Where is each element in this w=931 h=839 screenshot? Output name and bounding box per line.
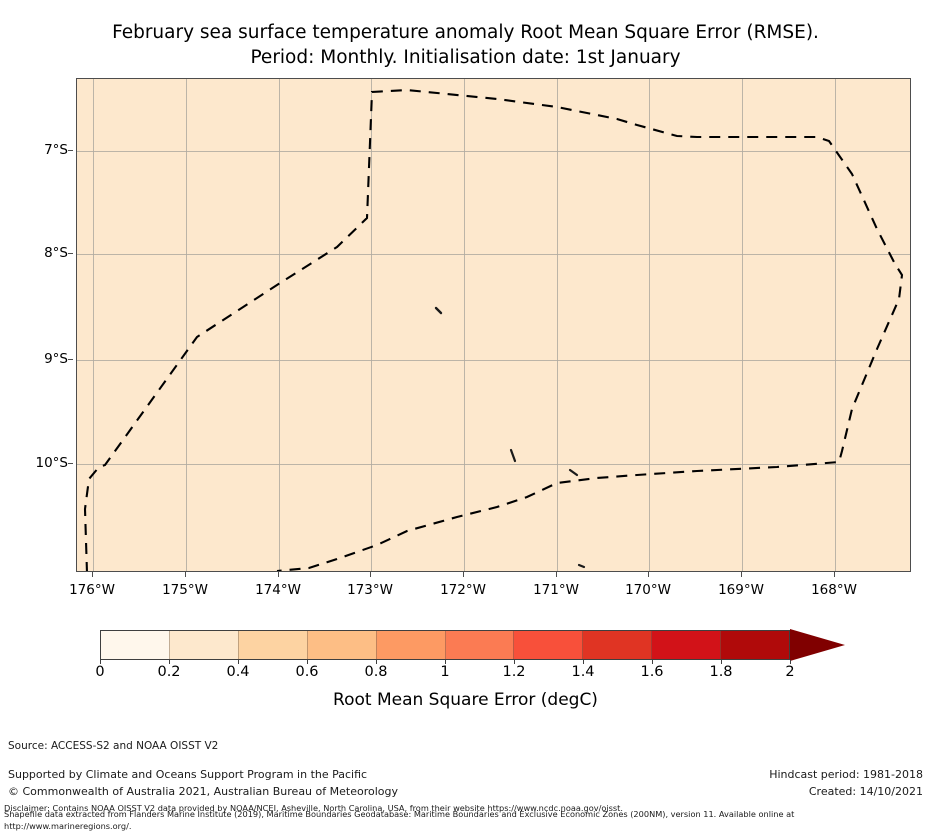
created-date: Created: 14/10/2021 <box>769 783 923 800</box>
colorbar-band-4 <box>376 631 445 659</box>
colorbar-tick-label: 0.6 <box>277 664 337 680</box>
x-tick-mark <box>834 572 835 577</box>
colorbar-band-6 <box>513 631 582 659</box>
colorbar-tick-label: 1.8 <box>691 664 751 680</box>
x-tick-label: 168°W <box>789 582 879 598</box>
hindcast-period: Hindcast period: 1981-2018 <box>769 766 923 783</box>
y-tick-label: 7°S <box>4 142 68 158</box>
y-tick-label: 10°S <box>4 455 68 471</box>
colorbar[interactable] <box>100 630 845 660</box>
y-tick-mark <box>68 463 73 464</box>
colorbar-band-1 <box>169 631 238 659</box>
title-line-2: Period: Monthly. Initialisation date: 1s… <box>0 45 931 70</box>
x-tick-mark <box>370 572 371 577</box>
colorbar-extend-arrow-icon <box>790 629 845 661</box>
y-tick-label: 8°S <box>4 245 68 261</box>
y-tick-label: 9°S <box>4 351 68 367</box>
title-line-1: February sea surface temperature anomaly… <box>0 20 931 45</box>
x-tick-label: 172°W <box>418 582 508 598</box>
colorbar-tick-label: 0.4 <box>208 664 268 680</box>
x-tick-label: 173°W <box>325 582 415 598</box>
y-axis: 7°S 8°S 9°S 10°S <box>0 78 68 572</box>
footer-meta-block: Hindcast period: 1981-2018 Created: 14/1… <box>769 766 923 800</box>
colorbar-band-5 <box>445 631 514 659</box>
y-tick-mark <box>68 150 73 151</box>
x-tick-label: 170°W <box>603 582 693 598</box>
page-title: February sea surface temperature anomaly… <box>0 20 931 70</box>
x-tick-mark <box>648 572 649 577</box>
colorbar-band-9 <box>720 631 789 659</box>
footer-support-block: Supported by Climate and Oceans Support … <box>8 766 398 800</box>
footer-source: Source: ACCESS-S2 and NOAA OISST V2 <box>8 740 218 752</box>
x-tick-mark <box>556 572 557 577</box>
colorbar-band-0 <box>101 631 169 659</box>
colorbar-gradient <box>100 630 790 660</box>
colorbar-tick-label: 1 <box>415 664 475 680</box>
colorbar-tick-label: 0.2 <box>139 664 199 680</box>
x-tick-mark <box>741 572 742 577</box>
map-plot-area[interactable] <box>76 78 911 572</box>
x-tick-label: 176°W <box>47 582 137 598</box>
island-coastline-shapes <box>77 79 911 572</box>
x-axis: 176°W 175°W 174°W 173°W 172°W 171°W 170°… <box>76 572 911 606</box>
disclaimer-line-2: Shapefile data extracted from Flanders M… <box>4 810 794 820</box>
colorbar-band-8 <box>651 631 720 659</box>
x-tick-mark <box>463 572 464 577</box>
colorbar-band-3 <box>307 631 376 659</box>
x-tick-label: 174°W <box>233 582 323 598</box>
colorbar-band-7 <box>582 631 651 659</box>
colorbar-band-2 <box>238 631 307 659</box>
colorbar-tick-label: 2 <box>760 664 820 680</box>
colorbar-axis: 00.20.40.60.811.21.41.61.82 <box>100 660 845 686</box>
colorbar-title: Root Mean Square Error (degC) <box>0 690 931 710</box>
x-tick-label: 169°W <box>696 582 786 598</box>
y-tick-mark <box>68 359 73 360</box>
x-tick-mark <box>92 572 93 577</box>
x-tick-mark <box>278 572 279 577</box>
colorbar-tick-label: 1.2 <box>484 664 544 680</box>
y-tick-mark <box>68 253 73 254</box>
colorbar-tick-label: 0.8 <box>346 664 406 680</box>
footer-support-line-1: Supported by Climate and Oceans Support … <box>8 766 398 783</box>
disclaimer-line-3: http://www.marineregions.org/. <box>4 822 131 832</box>
x-tick-label: 175°W <box>140 582 230 598</box>
x-tick-mark <box>185 572 186 577</box>
colorbar-tick-label: 0 <box>70 664 130 680</box>
x-tick-label: 171°W <box>511 582 601 598</box>
colorbar-tick-label: 1.6 <box>622 664 682 680</box>
footer-copyright: © Commonwealth of Australia 2021, Austra… <box>8 783 398 800</box>
colorbar-tick-label: 1.4 <box>553 664 613 680</box>
